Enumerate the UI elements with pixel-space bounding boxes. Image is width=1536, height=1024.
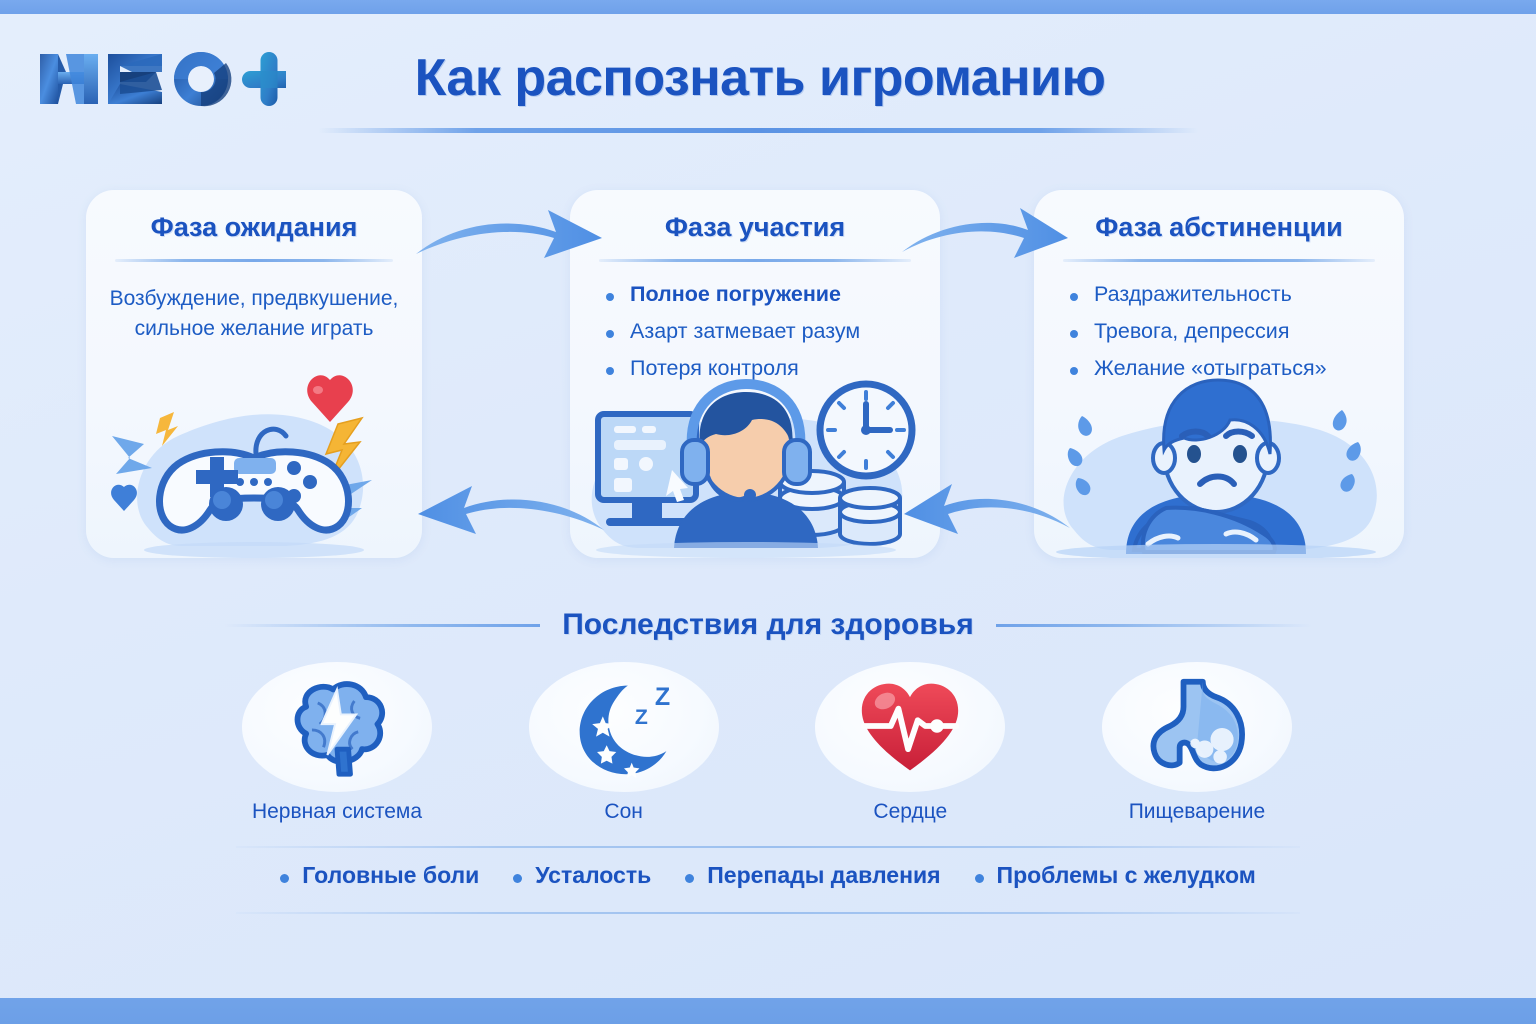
consequence-label: Пищеварение: [1129, 800, 1266, 824]
brain-icon: [242, 662, 432, 792]
svg-text:Z: Z: [635, 706, 648, 729]
consequences-section-header: Последствия для здоровья: [0, 608, 1536, 642]
illustration-game-controller: [86, 358, 422, 558]
stomach-icon: [1102, 662, 1292, 792]
top-accent-bar: [0, 0, 1536, 14]
brand-logo[interactable]: [36, 42, 286, 118]
list-item: Тревога, депрессия: [1068, 319, 1404, 344]
illustration-gamer-scene: [570, 358, 940, 558]
consequence-digestion[interactable]: Пищеварение: [1092, 662, 1302, 824]
phase-card-anticipation[interactable]: Фаза ожидания Возбуждение, предвкушение,…: [86, 190, 422, 558]
card-divider: [1063, 259, 1375, 262]
symptom-item: Усталость: [513, 862, 651, 889]
consequences-title: Последствия для здоровья: [562, 608, 974, 642]
consequence-heart[interactable]: Сердце: [805, 662, 1015, 824]
symptoms-divider-top: [236, 846, 1300, 848]
consequence-label: Нервная система: [252, 800, 422, 824]
phase-card-title: Фаза абстиненции: [1034, 212, 1404, 243]
infographic-page: Как распознать игроманию Фаза ожидания В…: [0, 0, 1536, 1024]
card-divider: [599, 259, 911, 262]
illustration-sad-person: [1034, 358, 1404, 558]
phase-card-title: Фаза участия: [570, 212, 940, 243]
arrow-left-phase2-to-phase1: [412, 472, 612, 542]
list-item: Раздражительность: [1068, 282, 1404, 307]
arrow-right-phase1-to-phase2: [408, 196, 608, 266]
title-underline: [318, 128, 1198, 133]
phase-card-title: Фаза ожидания: [86, 212, 422, 243]
consequence-label: Сердце: [873, 800, 947, 824]
consequence-label: Сон: [604, 800, 642, 824]
bottom-accent-bar: [0, 998, 1536, 1024]
consequence-nervous-system[interactable]: Нервная система: [232, 662, 442, 824]
arrow-left-phase3-to-phase2: [900, 472, 1076, 542]
phase-card-withdrawal[interactable]: Фаза абстиненции Раздражительность Трево…: [1034, 190, 1404, 558]
list-item: Полное погружение: [604, 282, 940, 307]
header-rule-right: [996, 624, 1312, 627]
symptom-item: Перепады давления: [685, 862, 940, 889]
phase-card-participation[interactable]: Фаза участия Полное погружение Азарт зат…: [570, 190, 940, 558]
header-rule-left: [224, 624, 540, 627]
symptom-item: Проблемы с желудком: [975, 862, 1256, 889]
card-divider: [115, 259, 393, 262]
consequences-row: Нервная система Z Z Сон: [232, 662, 1302, 824]
symptom-item: Головные боли: [280, 862, 479, 889]
list-item: Азарт затмевает разум: [604, 319, 940, 344]
moon-zzz-icon: Z Z: [529, 662, 719, 792]
svg-text:Z: Z: [655, 683, 670, 711]
symptoms-row: Головные боли Усталость Перепады давлени…: [0, 862, 1536, 889]
page-title: Как распознать игроманию: [340, 48, 1180, 108]
arrow-right-phase2-to-phase3: [896, 196, 1072, 266]
phase-card-description: Возбуждение, предвкушение, сильное желан…: [106, 284, 402, 344]
heart-pulse-icon: [815, 662, 1005, 792]
consequence-sleep[interactable]: Z Z Сон: [519, 662, 729, 824]
symptoms-divider-bottom: [236, 912, 1300, 914]
